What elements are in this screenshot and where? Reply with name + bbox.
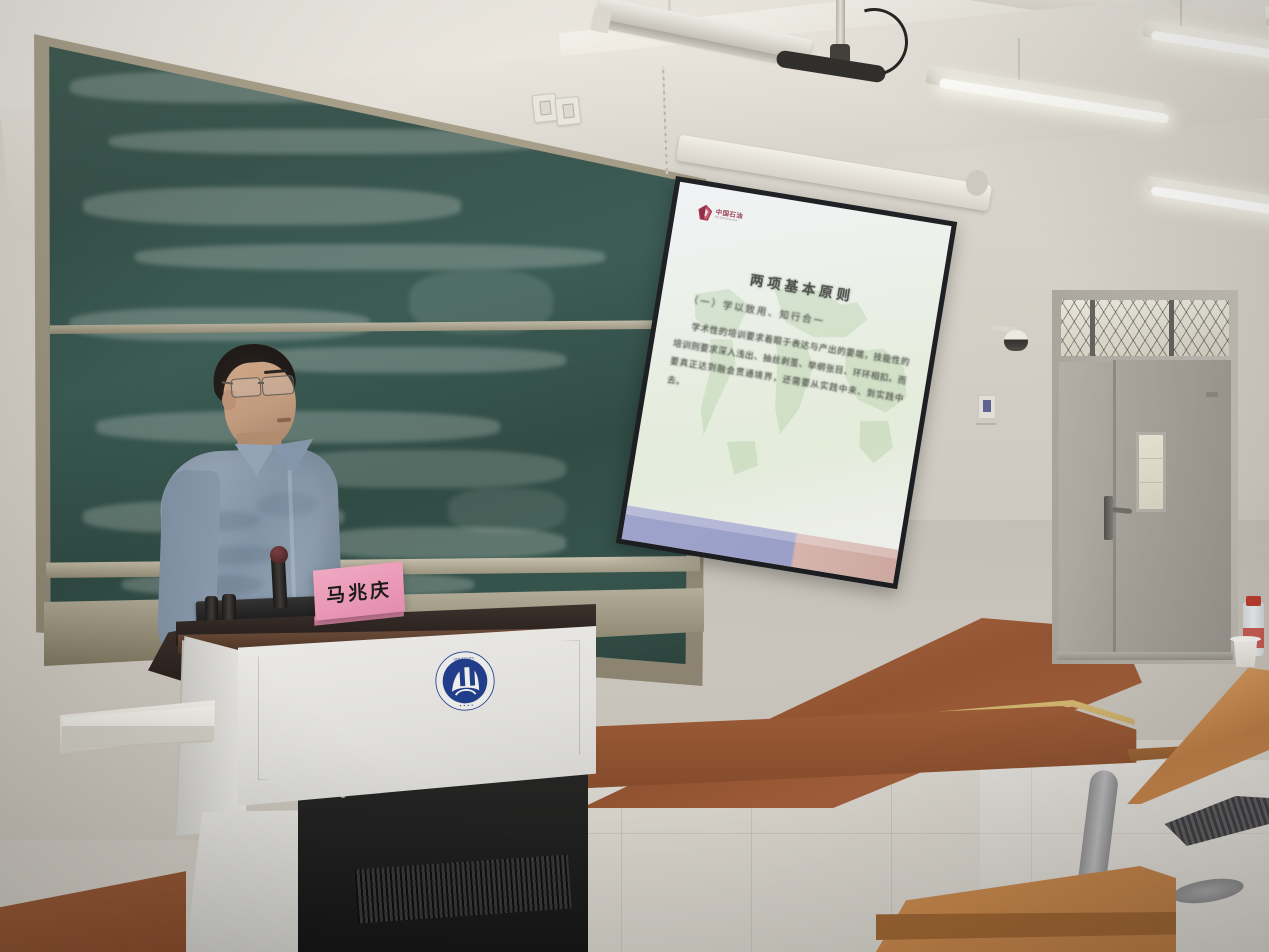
wall-outlet-icon <box>532 93 559 123</box>
wall-outlet-icon <box>555 96 582 126</box>
security-camera-icon <box>1004 330 1028 351</box>
glasses-icon <box>230 377 261 398</box>
paper-cup[interactable] <box>1232 638 1259 667</box>
glasses-icon <box>261 375 294 396</box>
door-transom-window <box>1061 300 1229 356</box>
transom-mullion <box>1090 300 1095 356</box>
lattice-grille-icon <box>1061 300 1229 356</box>
wall-panel-shadow <box>976 423 996 425</box>
door-vision-panel <box>1136 432 1166 512</box>
door-vision-divider <box>1138 482 1164 483</box>
glasses-bridge <box>258 382 264 384</box>
door-leaf-right[interactable] <box>1115 360 1231 658</box>
microphone-head-icon <box>270 546 288 564</box>
svg-text:• • • •: • • • • <box>459 704 474 710</box>
bottle-cap[interactable] <box>1246 596 1261 606</box>
classroom-photo-scene: 中国石油 PETROCHINA 两项基本原则 （一）学以致用、知行合一 学术性的… <box>0 0 1269 952</box>
nameplate: 马兆庆 <box>313 561 405 620</box>
door-closer <box>1206 392 1218 397</box>
slide-surface: 中国石油 PETROCHINA 两项基本原则 （一）学以致用、知行合一 学术性的… <box>622 182 952 584</box>
transom-mullion <box>1169 300 1174 356</box>
wall-control-panel[interactable] <box>978 395 996 419</box>
door-vision-divider <box>1138 458 1164 459</box>
door-handle[interactable] <box>1104 496 1113 540</box>
projection-screen: 中国石油 PETROCHINA 两项基本原则 （一）学以致用、知行合一 学术性的… <box>616 176 957 589</box>
door-sill <box>1057 652 1233 660</box>
slide-logo: 中国石油 PETROCHINA <box>696 203 744 227</box>
paper-cup-rim <box>1230 636 1261 642</box>
university-crest-icon: UNIVERSITY • • • • <box>432 648 497 713</box>
camera-bracket <box>992 328 997 348</box>
nameplate-text: 马兆庆 <box>325 574 392 608</box>
petrochina-logo-icon <box>696 203 714 222</box>
